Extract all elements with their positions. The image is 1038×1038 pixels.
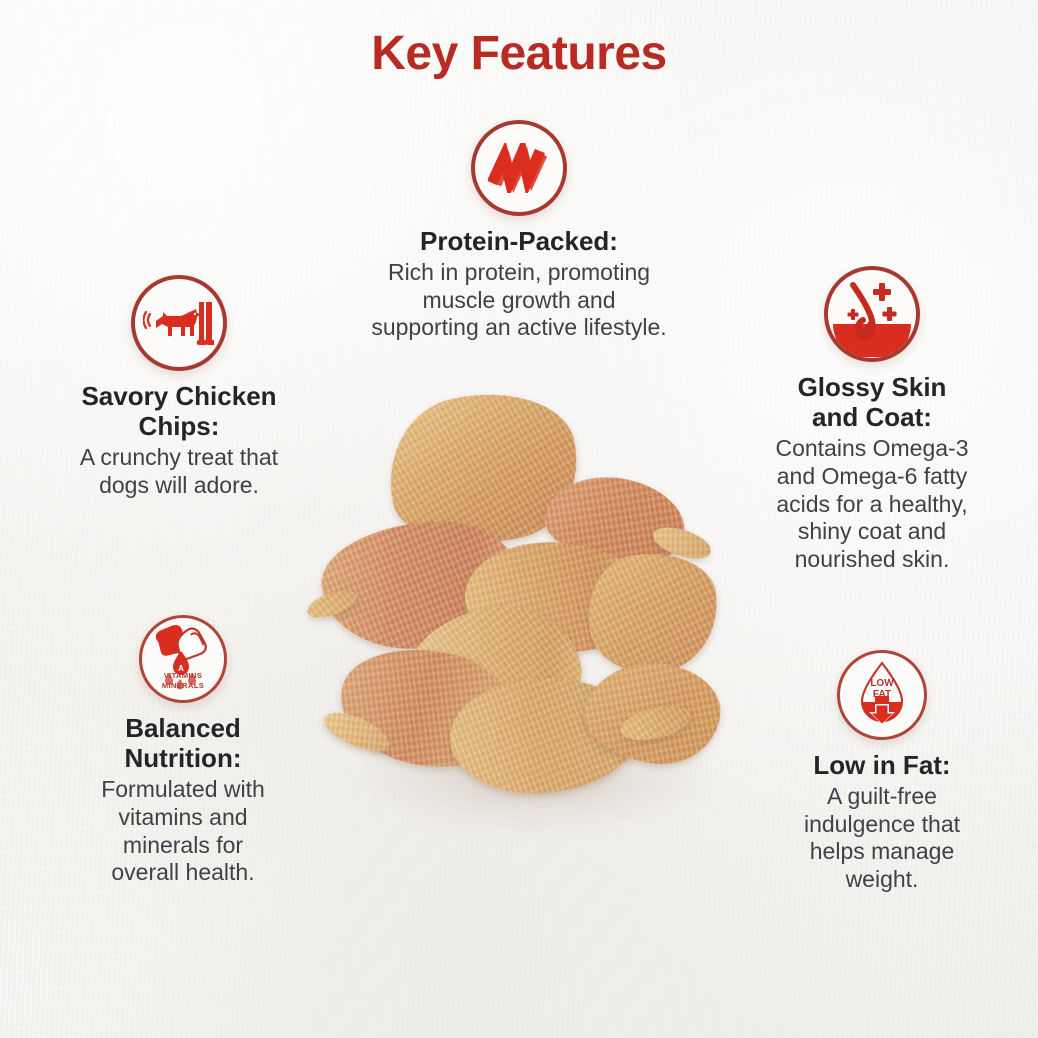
feature-body: Formulated with vitamins and minerals fo…	[28, 776, 338, 886]
feature-heading: Glossy Skin and Coat:	[712, 372, 1032, 432]
page-title: Key Features	[0, 26, 1038, 81]
feature-heading: Balanced Nutrition:	[28, 713, 338, 773]
feature-savory-chicken-chips: Savory Chicken Chips: A crunchy treat th…	[14, 275, 344, 500]
product-image	[300, 378, 762, 938]
low-fat-droplet-icon: LOW FAT	[837, 650, 927, 740]
capsule-icon-label: VITAMINS MINERALS	[142, 671, 224, 690]
capsule-icon-label-line2: MINERALS	[142, 681, 224, 690]
infographic-stage: Key Features	[0, 0, 1038, 1038]
hair-follicle-skin-icon	[824, 266, 920, 362]
feature-balanced-nutrition: A VITAMINS MINERALS Balanced Nutrition: …	[28, 615, 338, 887]
droplet-label-line1: LOW	[870, 678, 894, 689]
feature-body: A crunchy treat that dogs will adore.	[14, 444, 344, 499]
feature-heading: Savory Chicken Chips:	[14, 381, 344, 441]
feature-low-in-fat: LOW FAT Low in Fat: A guilt-free indulge…	[742, 650, 1022, 894]
vitamins-minerals-capsule-icon: A VITAMINS MINERALS	[139, 615, 227, 703]
feature-body: Contains Omega-3 and Omega-6 fatty acids…	[712, 435, 1032, 573]
feature-protein-packed: Protein-Packed: Rich in protein, promoti…	[297, 120, 741, 342]
feature-heading: Low in Fat:	[742, 750, 1022, 780]
feature-glossy-skin-and-coat: Glossy Skin and Coat: Contains Omega-3 a…	[712, 266, 1032, 573]
capsule-icon-label-line1: VITAMINS	[142, 671, 224, 680]
feature-heading: Protein-Packed:	[297, 226, 741, 256]
protein-zigzag-icon	[471, 120, 567, 216]
dog-with-owner-icon	[131, 275, 227, 371]
droplet-label-line2: FAT	[873, 689, 891, 700]
feature-body: A guilt-free indulgence that helps manag…	[742, 783, 1022, 893]
feature-body: Rich in protein, promoting muscle growth…	[297, 259, 741, 342]
